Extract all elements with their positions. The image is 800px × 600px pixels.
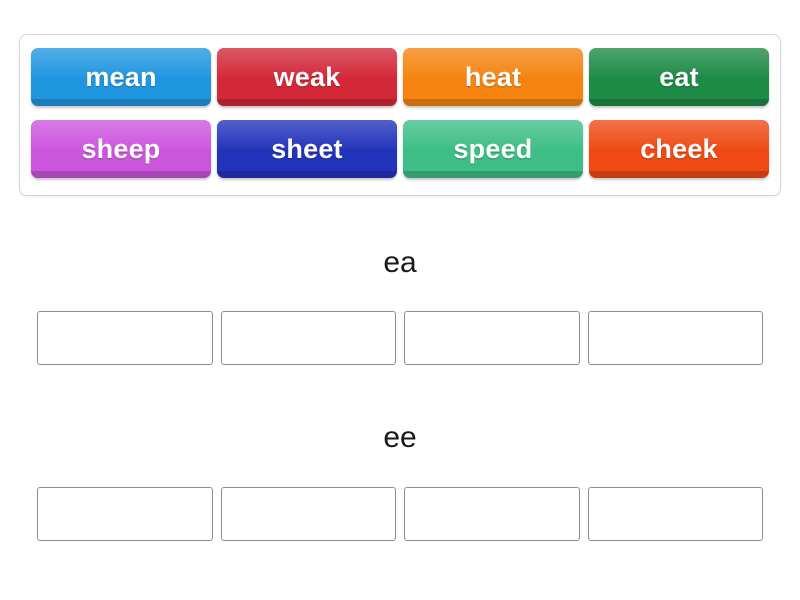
drop-slot-ea-4[interactable] [588,311,764,365]
word-tile-eat[interactable]: eat [589,48,769,106]
word-tile-label: eat [659,62,699,93]
drop-slot-ee-4[interactable] [588,487,764,541]
word-tile-label: sheep [81,134,160,165]
word-tile-label: speed [453,134,532,165]
word-tile-cheek[interactable]: cheek [589,120,769,178]
word-tile-cell: cheek [586,116,772,182]
word-bank-tray: mean weak heat eat sh [19,34,781,196]
drop-slot-cell [584,487,768,541]
word-tile-label: mean [85,62,156,93]
word-tile-weak[interactable]: weak [217,48,397,106]
word-bank-row-2: sheep sheet speed cheek [28,116,772,182]
drop-slot-cell [33,487,217,541]
word-tile-cell: weak [214,44,400,110]
word-tile-heat[interactable]: heat [403,48,583,106]
word-tile-cell: sheet [214,116,400,182]
drop-slot-cell [400,487,584,541]
drop-slot-cell [33,311,217,365]
drop-slot-ea-3[interactable] [404,311,580,365]
word-bank-row-1: mean weak heat eat [28,44,772,110]
word-tile-cell: speed [400,116,586,182]
word-tile-cell: eat [586,44,772,110]
word-tile-label: weak [274,62,341,93]
word-tile-sheep[interactable]: sheep [31,120,211,178]
word-tile-sheet[interactable]: sheet [217,120,397,178]
drop-slot-ee-3[interactable] [404,487,580,541]
drop-slot-ea-1[interactable] [37,311,213,365]
activity-stage: mean weak heat eat sh [0,0,800,600]
drop-slot-ee-2[interactable] [221,487,397,541]
word-tile-label: cheek [640,134,718,165]
word-tile-label: sheet [271,134,343,165]
drop-slot-cell [217,487,401,541]
word-tile-mean[interactable]: mean [31,48,211,106]
drop-slot-ea-2[interactable] [221,311,397,365]
drop-zone-row-ea [33,311,767,365]
word-tile-cell: mean [28,44,214,110]
drop-slot-cell [400,311,584,365]
word-tile-speed[interactable]: speed [403,120,583,178]
word-tile-label: heat [465,62,521,93]
drop-slot-cell [217,311,401,365]
drop-slot-cell [584,311,768,365]
word-tile-cell: heat [400,44,586,110]
drop-zone-row-ee [33,487,767,541]
word-tile-cell: sheep [28,116,214,182]
drop-slot-ee-1[interactable] [37,487,213,541]
category-heading-ee: ee [0,421,800,455]
category-heading-ea: ea [0,246,800,280]
